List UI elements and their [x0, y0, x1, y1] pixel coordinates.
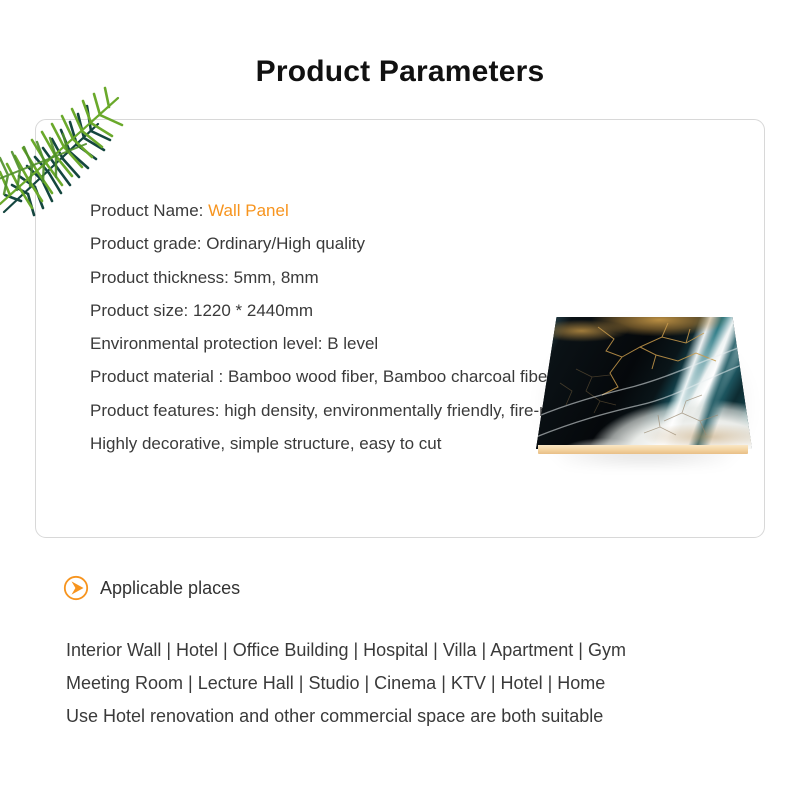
- spec-value: Ordinary/High quality: [206, 234, 365, 253]
- spec-row-product-grade: Product grade: Ordinary/High quality: [90, 227, 710, 260]
- circled-arrow-right-icon: [63, 575, 89, 601]
- spec-row-product-thickness: Product thickness: 5mm, 8mm: [90, 261, 710, 294]
- spec-value: Highly decorative, simple structure, eas…: [90, 434, 441, 453]
- spec-label: Product size:: [90, 301, 193, 320]
- applicable-places-label: Applicable places: [100, 575, 240, 601]
- spec-row-product-name: Product Name: Wall Panel: [90, 194, 710, 227]
- places-line: Meeting Room | Lecture Hall | Studio | C…: [66, 667, 766, 700]
- spec-label: Product material :: [90, 367, 228, 386]
- spec-value: B level: [327, 334, 378, 353]
- spec-value: 1220 * 2440mm: [193, 301, 313, 320]
- applicable-places-heading: Applicable places: [63, 575, 240, 601]
- spec-label: Product Name:: [90, 201, 208, 220]
- applicable-places-list: Interior Wall | Hotel | Office Building …: [66, 634, 766, 733]
- spec-label: Product features:: [90, 401, 224, 420]
- page-title: Product Parameters: [0, 52, 800, 92]
- spec-label: Product thickness:: [90, 268, 234, 287]
- spec-value: Wall Panel: [208, 201, 289, 220]
- product-parameters-card: Product Name: Wall Panel Product grade: …: [35, 119, 765, 538]
- marble-vein-lines: [536, 317, 752, 449]
- spec-label: Environmental protection level:: [90, 334, 327, 353]
- spec-label: Product grade:: [90, 234, 206, 253]
- places-line: Interior Wall | Hotel | Office Building …: [66, 634, 766, 667]
- spec-value: Bamboo wood fiber, Bamboo charcoal fiber: [228, 367, 553, 386]
- panel-marble-surface: [536, 317, 752, 449]
- panel-wood-edge: [538, 445, 748, 454]
- spec-value: 5mm, 8mm: [234, 268, 319, 287]
- places-line: Use Hotel renovation and other commercia…: [66, 700, 766, 733]
- product-panel-image: [524, 306, 764, 476]
